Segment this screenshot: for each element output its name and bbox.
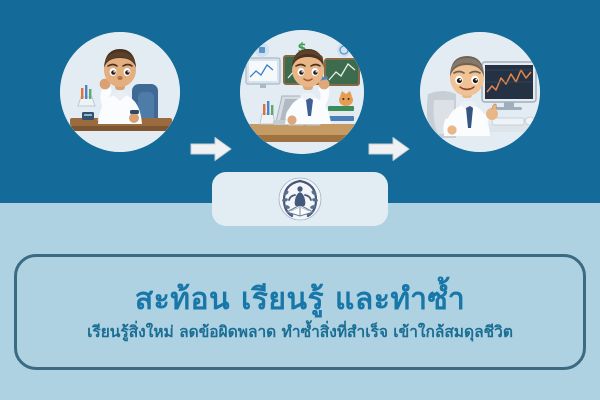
arrow-2	[368, 136, 410, 162]
page-title: สะท้อน เรียนรู้ และทำซ้ำ	[135, 282, 465, 317]
institutional-emblem-seal-icon	[277, 176, 323, 222]
process-flow-panels: $	[0, 30, 600, 160]
flow-step-learn: $	[240, 30, 364, 154]
student-reflecting-at-desk-illustration	[60, 32, 180, 152]
arrow-right-icon	[190, 136, 232, 162]
infographic-banner: $	[0, 0, 600, 400]
student-learning-with-laptop-and-charts-illustration: $	[240, 30, 364, 154]
arrow-right-icon	[368, 136, 410, 162]
student-success-thumbs-up-at-computer-illustration	[420, 32, 540, 152]
flow-step-reflect	[60, 32, 180, 152]
message-box: สะท้อน เรียนรู้ และทำซ้ำ เรียนรู้สิ่งใหม…	[14, 254, 586, 370]
flow-step-repeat	[420, 32, 540, 152]
arrow-1	[190, 136, 232, 162]
seal-badge	[212, 172, 388, 226]
page-subtitle: เรียนรู้สิ่งใหม่ ลดข้อผิดพลาด ทำซ้ำสิ่งท…	[87, 323, 513, 342]
